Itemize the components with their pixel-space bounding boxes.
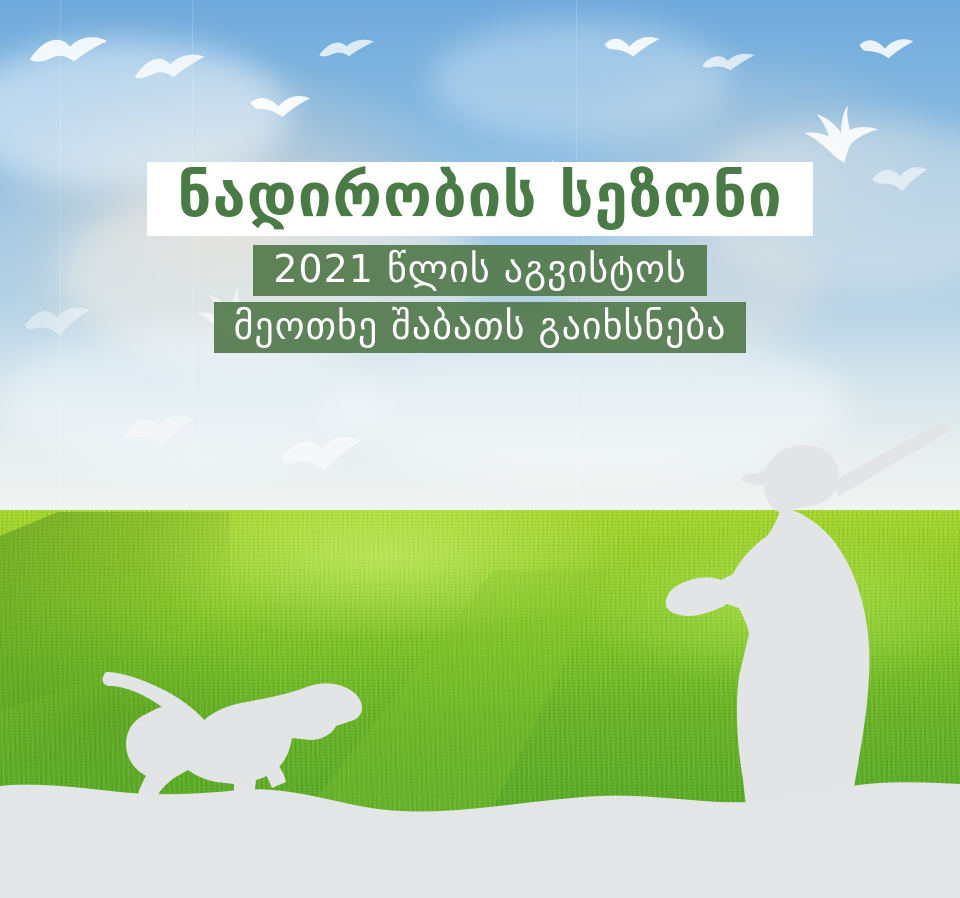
bird-icon bbox=[318, 36, 380, 68]
ground-band bbox=[0, 748, 960, 898]
bird-icon bbox=[856, 30, 916, 66]
bird-icon bbox=[133, 50, 211, 90]
cloud bbox=[430, 20, 730, 140]
page-title: ნადირობის სეზონი bbox=[177, 166, 782, 226]
subtitle-line-2: მეოთხე შაბათს გაიხსნება bbox=[234, 307, 727, 345]
headline-banner: ნადირობის სეზონი bbox=[147, 162, 812, 236]
bird-icon bbox=[28, 32, 120, 78]
bird-icon bbox=[122, 406, 196, 458]
subtitle-line-1: 2021 წლის აგვისტოს bbox=[273, 250, 686, 288]
subtitle-banner-line2: მეოთხე შაბათს გაიხსნება bbox=[214, 302, 747, 353]
subtitle-banner-line1: 2021 წლის აგვისტოს bbox=[253, 245, 706, 296]
bird-icon bbox=[22, 300, 92, 346]
bird-icon bbox=[248, 88, 314, 126]
bird-icon bbox=[278, 428, 364, 484]
bird-icon bbox=[700, 48, 758, 80]
bird-icon bbox=[870, 160, 930, 204]
hunting-season-poster: ნადირობის სეზონი 2021 წლის აგვისტოს მეოთ… bbox=[0, 0, 960, 898]
bird-icon bbox=[601, 28, 663, 64]
